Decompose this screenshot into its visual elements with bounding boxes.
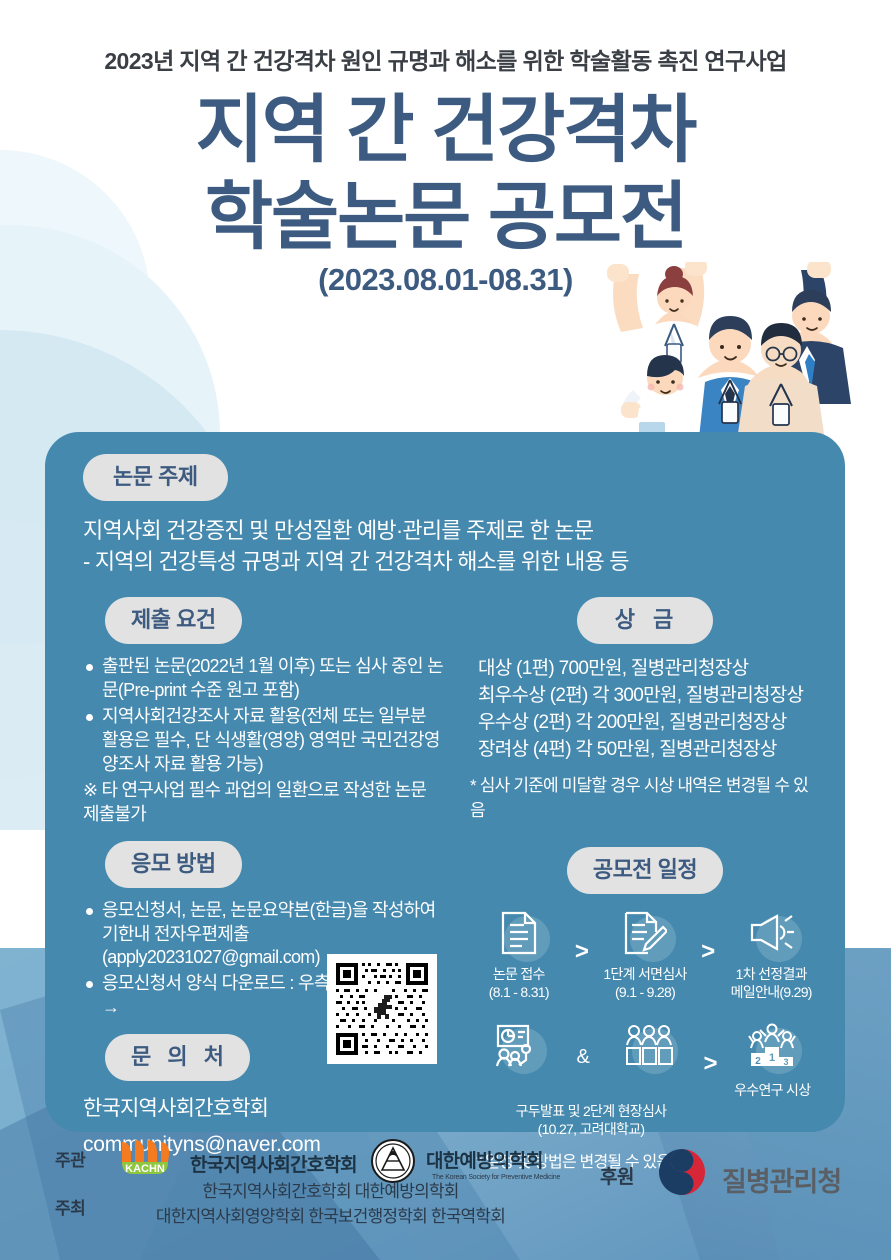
- sponsor-label: 후원: [600, 1162, 634, 1189]
- requirements-label: 제출 요건: [105, 597, 242, 644]
- right-column: 상 금 대상 (1편) 700만원, 질병관리청장상 최우수상 (2편) 각 3…: [470, 597, 820, 1178]
- topic-description: 지역사회 건강증진 및 만성질환 예방·관리를 주제로 한 논문 - 지역의 건…: [83, 515, 813, 577]
- date-range: (2023.08.01-08.31): [0, 262, 891, 298]
- schedule-step-line2: (9.1 - 9.28): [596, 984, 694, 1002]
- apply-head: 응모 방법: [83, 841, 443, 888]
- organizer-org-2-name: 대한예방의학회: [426, 1146, 543, 1173]
- prize-note: * 심사 기준에 미달할 경우 시상 내역은 변경될 수 있음: [470, 771, 820, 821]
- prize-list: 대상 (1편) 700만원, 질병관리청장상 최우수상 (2편) 각 300만원…: [470, 656, 820, 764]
- header-kicker: 2023년 지역 간 건강격차 원인 규명과 해소를 위한 학술활동 촉진 연구…: [0, 42, 891, 76]
- schedule-row-1: 논문 접수 (8.1 - 8.31) >: [470, 904, 820, 1002]
- svg-text:KACHN: KACHN: [125, 1163, 165, 1175]
- schedule-step-label: 1단계 서면심사 (9.1 - 9.28): [596, 966, 694, 1002]
- megaphone-icon: [722, 904, 820, 962]
- document-pencil-icon: [596, 904, 694, 962]
- requirements-note: ※ 타 연구사업 필수 과업의 일환으로 작성한 논문 제출불가: [83, 779, 443, 827]
- schedule-step-line1: 논문 접수: [470, 966, 568, 984]
- schedule-caption-line1: 구두발표 및 2단계 현장심사: [476, 1102, 706, 1120]
- audience-icon: [601, 1016, 696, 1074]
- schedule-head: 공모전 일정: [470, 847, 820, 894]
- prize-section: 상 금 대상 (1편) 700만원, 질병관리청장상 최우수상 (2편) 각 3…: [470, 597, 820, 821]
- main-content-card: 논문 주제 지역사회 건강증진 및 만성질환 예방·관리를 주제로 한 논문 -…: [45, 432, 845, 1132]
- document-icon: [470, 904, 568, 962]
- organizer-label: 주관: [55, 1146, 85, 1171]
- kachn-logo: KACHN: [118, 1140, 178, 1182]
- podium-icon: 1 2 3: [725, 1016, 820, 1074]
- contact-label: 문 의 처: [105, 1034, 250, 1081]
- prize-item: 우수상 (2편) 각 200만원, 질병관리청장상: [478, 710, 820, 737]
- schedule-step-line2: 메일안내(9.29): [722, 984, 820, 1002]
- left-column: 제출 요건 출판된 논문(2022년 1월 이후) 또는 심사 중인 논문(Pr…: [83, 597, 443, 1163]
- schedule-step-label: 1차 선정결과 메일안내(9.29): [722, 966, 820, 1002]
- topic-section: 논문 주제 지역사회 건강증진 및 만성질환 예방·관리를 주제로 한 논문 -…: [83, 454, 813, 577]
- prize-item: 장려상 (4편) 각 50만원, 질병관리청장상: [478, 737, 820, 764]
- kdca-taegeuk-logo: [656, 1146, 708, 1198]
- schedule-step: 1 2 3 우수연구 시상: [725, 1016, 820, 1100]
- schedule-step-line1: 우수연구 시상: [725, 1082, 820, 1100]
- schedule-step-line1: 1단계 서면심사: [596, 966, 694, 984]
- schedule-step-label: 논문 접수 (8.1 - 8.31): [470, 966, 568, 1002]
- requirements-item: 출판된 논문(2022년 1월 이후) 또는 심사 중인 논문(Pre-prin…: [83, 655, 443, 703]
- schedule-row-2: & >: [470, 1016, 820, 1100]
- requirements-section: 제출 요건 출판된 논문(2022년 1월 이후) 또는 심사 중인 논문(Pr…: [83, 597, 443, 827]
- kspm-seal-logo: [370, 1138, 416, 1184]
- schedule-step: 1차 선정결과 메일안내(9.29): [722, 904, 820, 1002]
- topic-label: 논문 주제: [83, 454, 228, 501]
- requirements-item: 지역사회건강조사 자료 활용(전체 또는 일부분 활용은 필수, 단 식생활(영…: [83, 705, 443, 777]
- presentation-icon: [470, 1016, 565, 1074]
- schedule-section: 공모전 일정 논문 접수: [470, 847, 820, 1172]
- organizer-org-1-name: 한국지역사회간호학회: [190, 1150, 357, 1177]
- topic-line-1: 지역사회 건강증진 및 만성질환 예방·관리를 주제로 한 논문: [83, 515, 813, 546]
- requirements-head: 제출 요건: [83, 597, 443, 644]
- requirements-list: 출판된 논문(2022년 1월 이후) 또는 심사 중인 논문(Pre-prin…: [83, 655, 443, 777]
- chevron-right-icon: >: [698, 904, 719, 966]
- schedule-step: [470, 1016, 565, 1074]
- page-title-line1: 지역 간 건강격차: [0, 90, 891, 170]
- contact-organization: 한국지역사회간호학회: [83, 1092, 443, 1122]
- host-organizations: 한국지역사회간호학회 대한예방의학회 대한지역사회영양학회 한국보건행정학회 한…: [0, 1180, 661, 1229]
- apply-label: 응모 방법: [105, 841, 242, 888]
- sponsor-name: 질병관리청: [722, 1160, 841, 1199]
- schedule-label: 공모전 일정: [567, 847, 723, 894]
- poster-header: 2023년 지역 간 건강격차 원인 규명과 해소를 위한 학술활동 촉진 연구…: [0, 0, 891, 298]
- chevron-right-icon: >: [700, 1016, 720, 1078]
- page-title-line2: 학술논문 공모전: [0, 178, 891, 256]
- host-line-2: 대한지역사회영양학회 한국보건행정학회 한국역학회: [0, 1205, 661, 1230]
- qr-code[interactable]: [327, 954, 437, 1064]
- schedule-step-line1: 1차 선정결과: [722, 966, 820, 984]
- poster-root: 2023년 지역 간 건강격차 원인 규명과 해소를 위한 학술활동 촉진 연구…: [0, 0, 891, 1260]
- schedule-step: 논문 접수 (8.1 - 8.31): [470, 904, 568, 1002]
- schedule-step-label: 우수연구 시상: [725, 1082, 820, 1100]
- schedule-step: [601, 1016, 696, 1074]
- prize-item: 최우수상 (2편) 각 300만원, 질병관리청장상: [478, 683, 820, 710]
- schedule-step-line2: (8.1 - 8.31): [470, 984, 568, 1002]
- poster-footer: 주관 주최 KACHN 한국지역사회간호학회 대한예방의학회 The Korea…: [0, 1132, 891, 1260]
- prize-label: 상 금: [577, 597, 714, 644]
- prize-item: 대상 (1편) 700만원, 질병관리청장상: [478, 656, 820, 683]
- chevron-right-icon: >: [572, 904, 593, 966]
- host-line-1: 한국지역사회간호학회 대한예방의학회: [0, 1180, 661, 1205]
- qr-code-image: [332, 959, 432, 1059]
- topic-line-2: - 지역의 건강특성 규명과 지역 간 건강격차 해소를 위한 내용 등: [83, 546, 813, 577]
- ampersand-separator: &: [569, 1016, 597, 1069]
- prize-head: 상 금: [470, 597, 820, 644]
- schedule-step: 1단계 서면심사 (9.1 - 9.28): [596, 904, 694, 1002]
